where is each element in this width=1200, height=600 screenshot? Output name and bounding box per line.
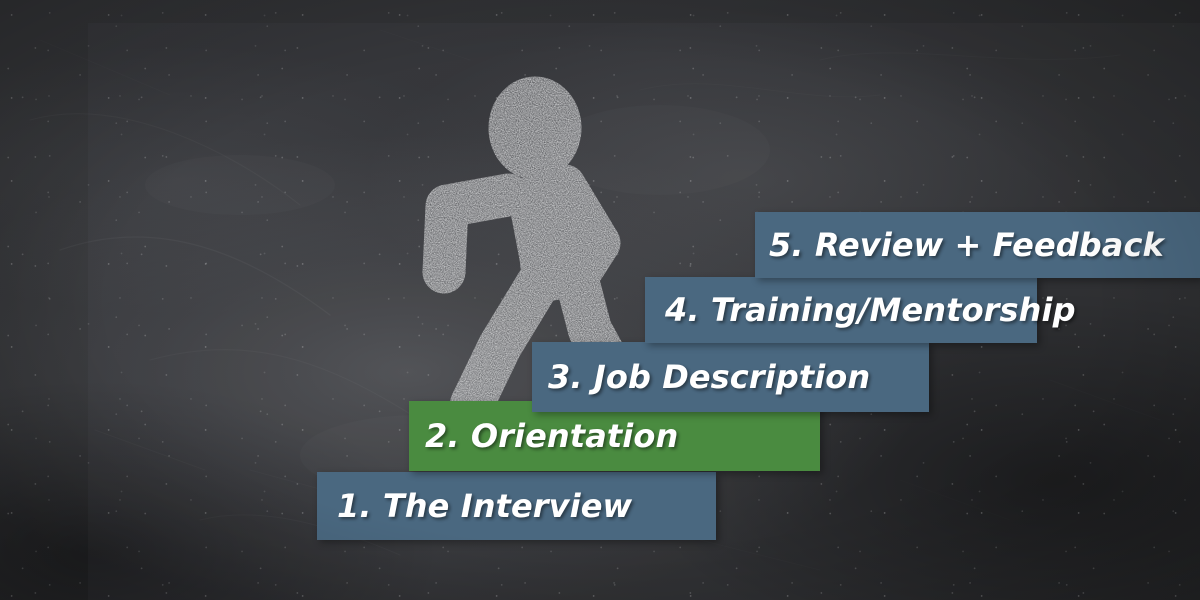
step-2-label: 2. Orientation <box>425 417 678 455</box>
step-4-training-mentorship[interactable]: 4. Training/Mentorship <box>645 277 1037 343</box>
step-4-label: 4. Training/Mentorship <box>665 291 1076 329</box>
step-3-label: 3. Job Description <box>548 358 870 396</box>
step-5-review-feedback[interactable]: 5. Review + Feedback <box>755 212 1200 278</box>
chalkboard-staircase-graphic: 1. The Interview 2. Orientation 3. Job D… <box>0 0 1200 600</box>
step-1-the-interview[interactable]: 1. The Interview <box>317 472 716 540</box>
step-3-job-description[interactable]: 3. Job Description <box>532 342 929 412</box>
step-5-label: 5. Review + Feedback <box>769 226 1164 264</box>
step-1-label: 1. The Interview <box>337 487 632 525</box>
